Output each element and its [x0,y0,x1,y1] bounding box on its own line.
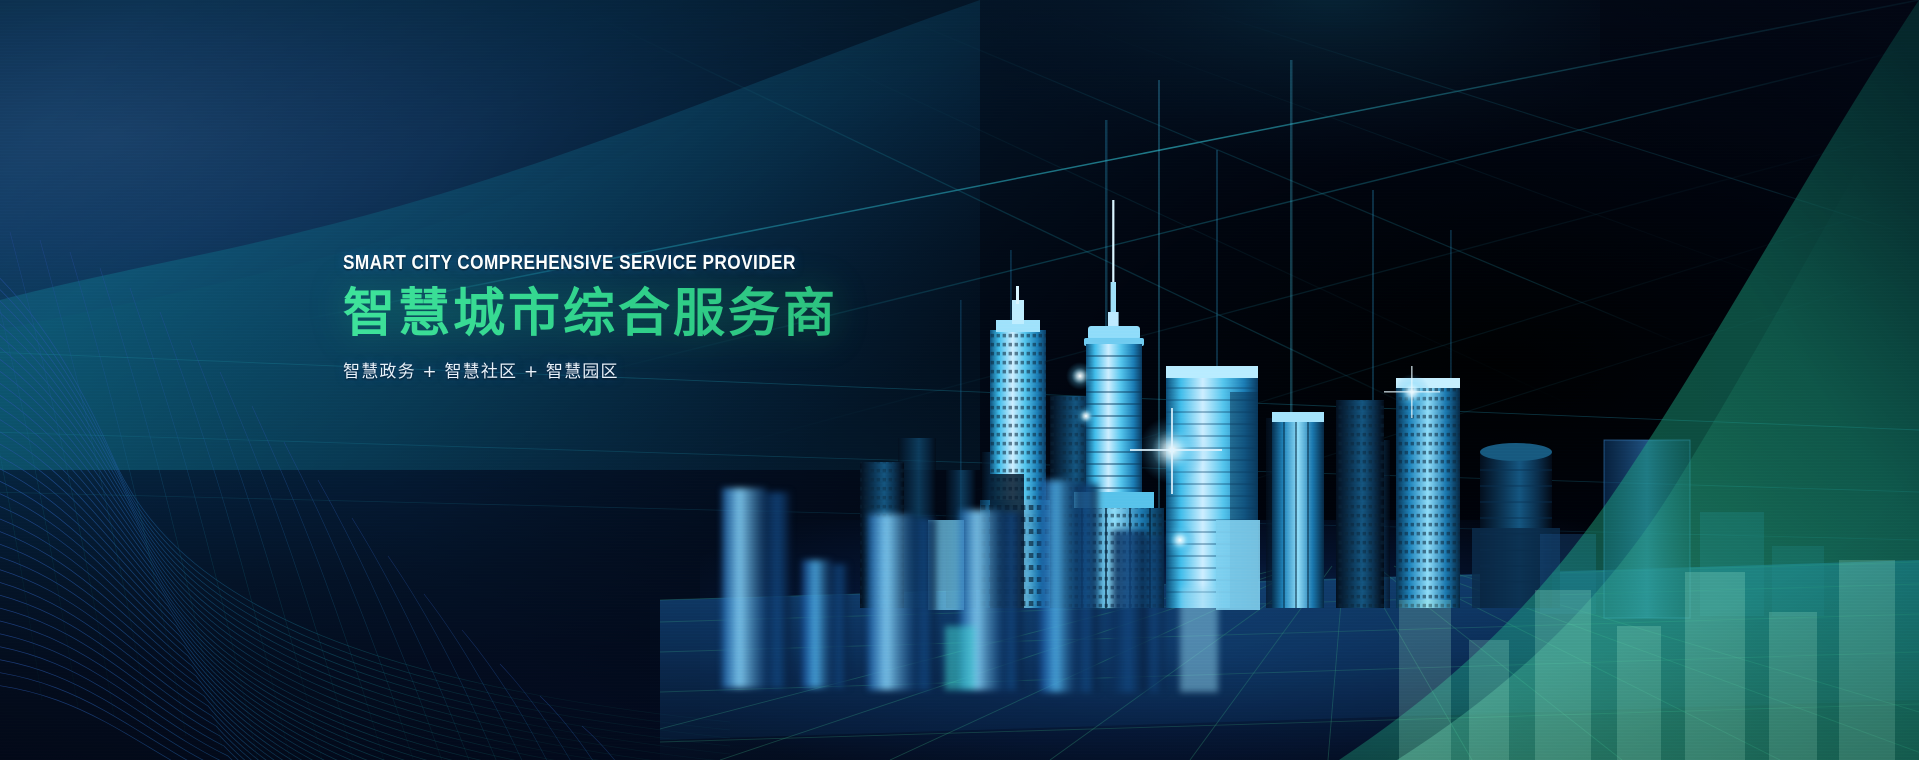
hero-banner: SMART CITY COMPREHENSIVE SERVICE PROVIDE… [0,0,1919,760]
hero-subtitle: 智慧政务 + 智慧社区 + 智慧园区 [343,357,1103,382]
hero-title: 智慧城市综合服务商 [343,285,1103,343]
hero-copy-block: SMART CITY COMPREHENSIVE SERVICE PROVIDE… [343,252,1103,382]
hero-eyebrow: SMART CITY COMPREHENSIVE SERVICE PROVIDE… [343,252,997,274]
